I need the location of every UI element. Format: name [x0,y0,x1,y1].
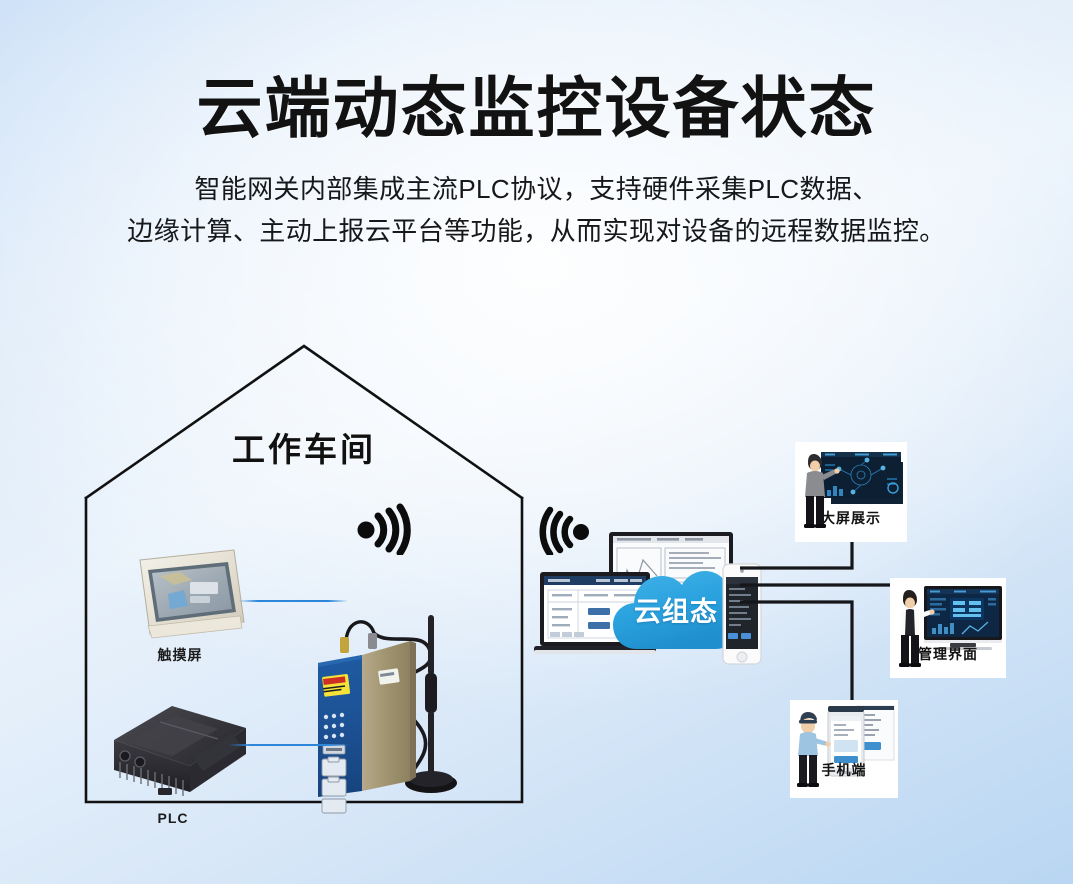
iot-gateway-icon [306,585,492,815]
touchscreen-hmi-icon [130,542,250,640]
link-line-touchscreen [238,600,348,602]
wifi-signal-icon [355,497,417,555]
subtitle-line-2: 边缘计算、主动上报云平台等功能，从而实现对设备的远程数据监控。 [0,210,1073,252]
plc-caption: PLC [93,810,253,826]
subtitle-line-1: 智能网关内部集成主流PLC协议，支持硬件采集PLC数据、 [0,168,1073,210]
page-title: 云端动态监控设备状态 [0,72,1073,146]
workshop-label: 工作车间 [78,423,530,471]
mobile-phone-icon [790,700,898,798]
workshop-diagram: 工作车间 [78,338,530,812]
large-display-caption: 大屏展示 [795,508,907,528]
cloud-label: 云组态 [613,590,739,629]
link-line-plc [228,744,350,746]
cloud-platform-group: 云组态 [526,495,776,675]
mobile-terminal-caption: 手机端 [790,760,898,780]
touchscreen-caption: 触摸屏 [100,645,260,665]
page-subtitle: 智能网关内部集成主流PLC协议，支持硬件采集PLC数据、 边缘计算、主动上报云平… [0,168,1073,252]
wifi-signal-icon [533,501,591,555]
management-interface-caption: 管理界面 [890,644,1006,664]
plc-module-icon [98,696,254,808]
header: 云端动态监控设备状态 智能网关内部集成主流PLC协议，支持硬件采集PLC数据、 … [0,72,1073,252]
poster-canvas: 云端动态监控设备状态 智能网关内部集成主流PLC协议，支持硬件采集PLC数据、 … [0,0,1073,884]
